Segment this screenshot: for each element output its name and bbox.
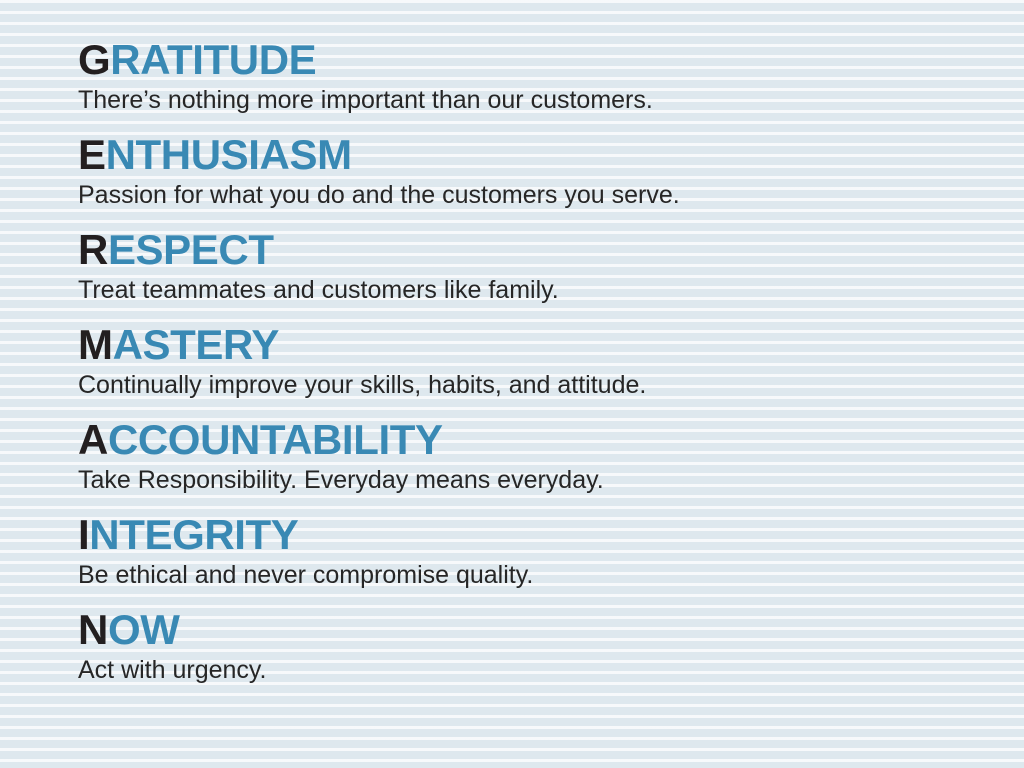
value-description-integrity: Be ethical and never compromise quality. <box>78 559 958 592</box>
value-heading-now: NOW <box>78 608 958 652</box>
value-row-gratitude: GRATITUDE There’s nothing more important… <box>78 38 958 117</box>
value-row-accountability: ACCOUNTABILITY Take Responsibility. Ever… <box>78 418 958 497</box>
value-row-enthusiasm: ENTHUSIASM Passion for what you do and t… <box>78 133 958 212</box>
poster-canvas: GRATITUDE There’s nothing more important… <box>0 0 1024 768</box>
value-heading-remainder: CCOUNTABILITY <box>108 416 443 463</box>
value-description-now: Act with urgency. <box>78 654 958 687</box>
value-row-respect: RESPECT Treat teammates and customers li… <box>78 228 958 307</box>
value-heading-integrity: INTEGRITY <box>78 513 958 557</box>
value-initial-letter: A <box>78 416 108 463</box>
value-heading-remainder: NTEGRITY <box>89 511 298 558</box>
value-heading-enthusiasm: ENTHUSIASM <box>78 133 958 177</box>
value-row-now: NOW Act with urgency. <box>78 608 958 687</box>
value-description-accountability: Take Responsibility. Everyday means ever… <box>78 464 958 497</box>
value-initial-letter: G <box>78 36 110 83</box>
value-heading-remainder: OW <box>108 606 180 653</box>
value-description-mastery: Continually improve your skills, habits,… <box>78 369 958 402</box>
value-row-integrity: INTEGRITY Be ethical and never compromis… <box>78 513 958 592</box>
value-heading-respect: RESPECT <box>78 228 958 272</box>
value-initial-letter: R <box>78 226 108 273</box>
value-initial-letter: N <box>78 606 108 653</box>
value-heading-remainder: ASTERY <box>113 321 279 368</box>
value-initial-letter: E <box>78 131 106 178</box>
value-description-enthusiasm: Passion for what you do and the customer… <box>78 179 958 212</box>
value-heading-remainder: NTHUSIASM <box>106 131 352 178</box>
core-values-list: GRATITUDE There’s nothing more important… <box>78 38 958 703</box>
value-heading-remainder: ESPECT <box>108 226 274 273</box>
value-row-mastery: MASTERY Continually improve your skills,… <box>78 323 958 402</box>
value-description-respect: Treat teammates and customers like famil… <box>78 274 958 307</box>
value-heading-gratitude: GRATITUDE <box>78 38 958 82</box>
value-heading-mastery: MASTERY <box>78 323 958 367</box>
value-description-gratitude: There’s nothing more important than our … <box>78 84 958 117</box>
value-heading-remainder: RATITUDE <box>110 36 316 83</box>
value-heading-accountability: ACCOUNTABILITY <box>78 418 958 462</box>
value-initial-letter: I <box>78 511 89 558</box>
value-initial-letter: M <box>78 321 113 368</box>
